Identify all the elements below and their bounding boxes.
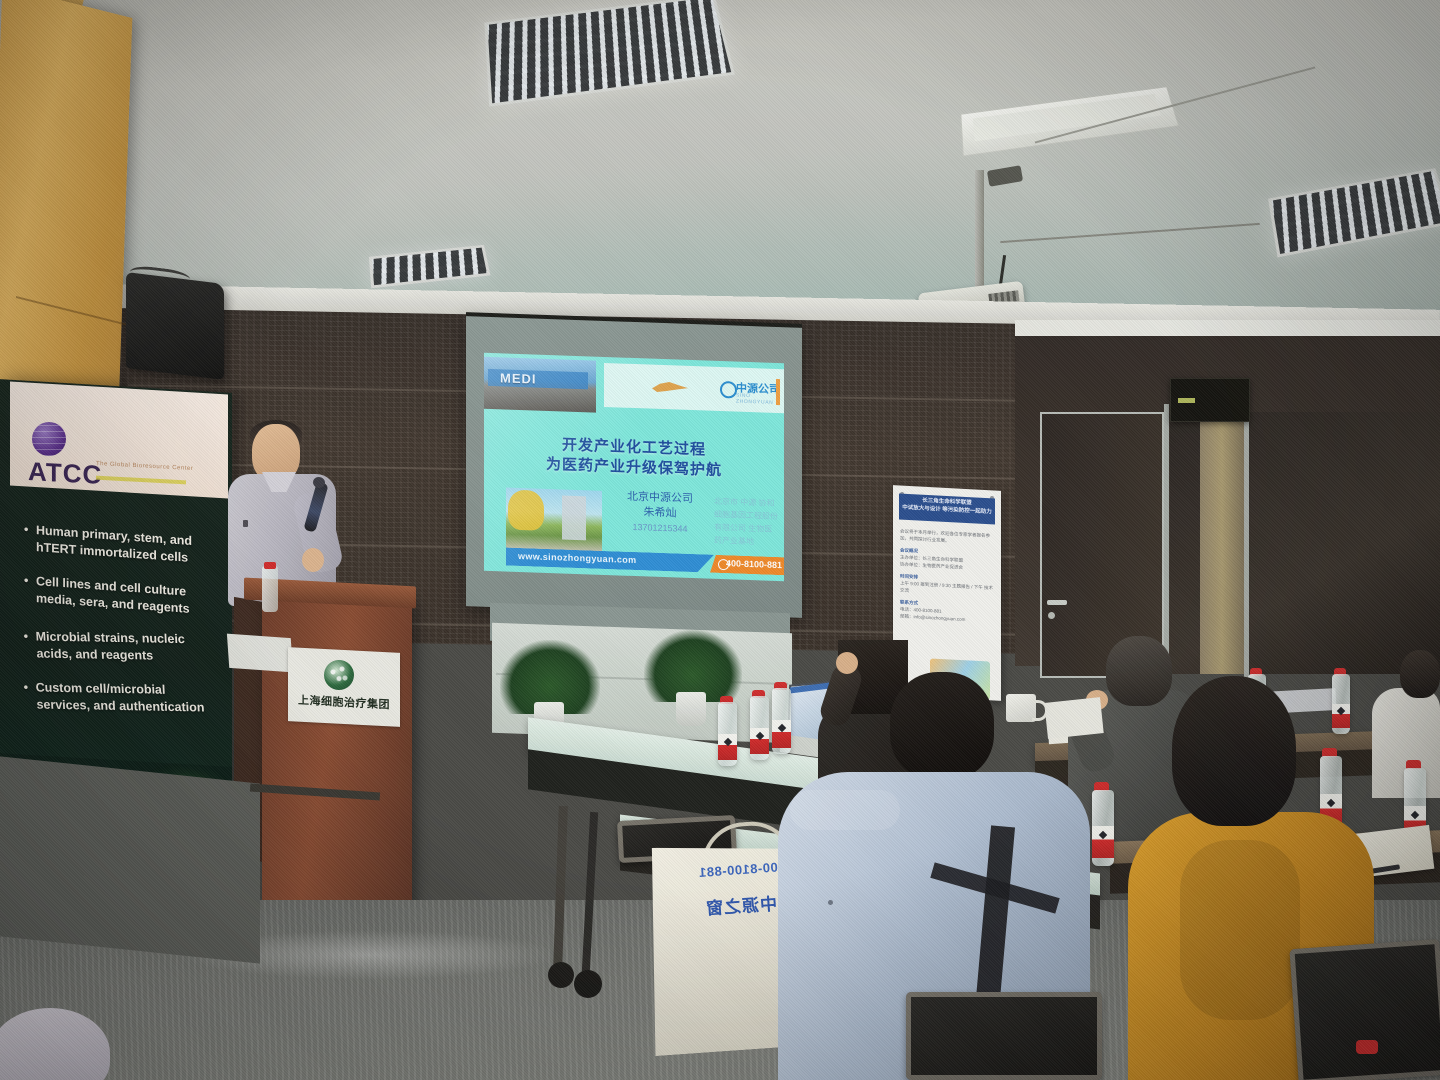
- cart-wheel: [574, 970, 602, 998]
- attendee-sweater-shading: [1180, 840, 1300, 1020]
- attendee-head: [890, 672, 994, 780]
- water-bottle: [718, 702, 737, 766]
- bottle-label: [772, 720, 791, 748]
- poster-body: 会议将于本月举行，欢迎各位专家学者报名参加，共同探讨行业发展。 会议概况 主办单…: [900, 528, 994, 625]
- wood-beam: [0, 0, 132, 434]
- door-handle-icon[interactable]: [1047, 600, 1067, 605]
- water-bottle: [1092, 790, 1114, 866]
- presenter-pocket: [243, 520, 248, 527]
- monitor-led-indicator: [1178, 398, 1195, 403]
- podium-papers: [227, 634, 293, 673]
- door-lock-icon[interactable]: [1048, 612, 1055, 619]
- wall-pillar: [1200, 412, 1244, 674]
- bottle-label: [750, 728, 769, 754]
- list-item: Custom cell/microbial services, and auth…: [23, 679, 217, 716]
- conference-room-photo: MEDI 中源公司 SINO ZHONGYUAN 开发产业化工艺过程 为医药产业…: [0, 0, 1440, 1080]
- bottle-cap: [264, 562, 276, 569]
- atcc-wordmark: ATCC: [28, 456, 102, 491]
- water-bottle: [750, 696, 769, 760]
- papers-on-table: [1044, 697, 1103, 739]
- wall-speaker-icon: [126, 272, 224, 380]
- water-bottle: [262, 566, 278, 612]
- atcc-globe-lines: [32, 422, 66, 456]
- plant-pot: [676, 692, 706, 726]
- water-bottle: [1332, 674, 1350, 734]
- projector-mount-rod: [975, 170, 984, 290]
- bottle-cap: [1356, 1040, 1378, 1054]
- list-item: Microbial strains, nucleic acids, and re…: [23, 628, 217, 665]
- shirt-button: [828, 900, 833, 905]
- bottle-label: [1092, 826, 1114, 858]
- list-item: Cell lines and cell culture media, sera,…: [24, 572, 216, 619]
- attendee-head: [1172, 676, 1296, 826]
- floor-left-section: [0, 756, 260, 963]
- attendee-hand: [836, 652, 858, 674]
- screen-glare: [484, 353, 784, 581]
- podium-logo-dots: [324, 660, 354, 690]
- attendee-shoulder-highlight: [790, 790, 900, 830]
- attendee-head: [1400, 650, 1440, 698]
- bottle-label: [1332, 704, 1350, 728]
- window-mullion: [1164, 404, 1169, 680]
- table-caster-wheel: [548, 962, 574, 988]
- attendee-head: [1106, 636, 1172, 706]
- window-mullion: [1244, 404, 1249, 680]
- chair[interactable]: [1289, 939, 1440, 1080]
- presenter-hand: [302, 548, 324, 572]
- chair[interactable]: [906, 992, 1102, 1080]
- atcc-bullet-list: Human primary, stem, and hTERT immortali…: [24, 521, 216, 738]
- water-bottle: [772, 688, 791, 754]
- bottle-label: [718, 734, 737, 760]
